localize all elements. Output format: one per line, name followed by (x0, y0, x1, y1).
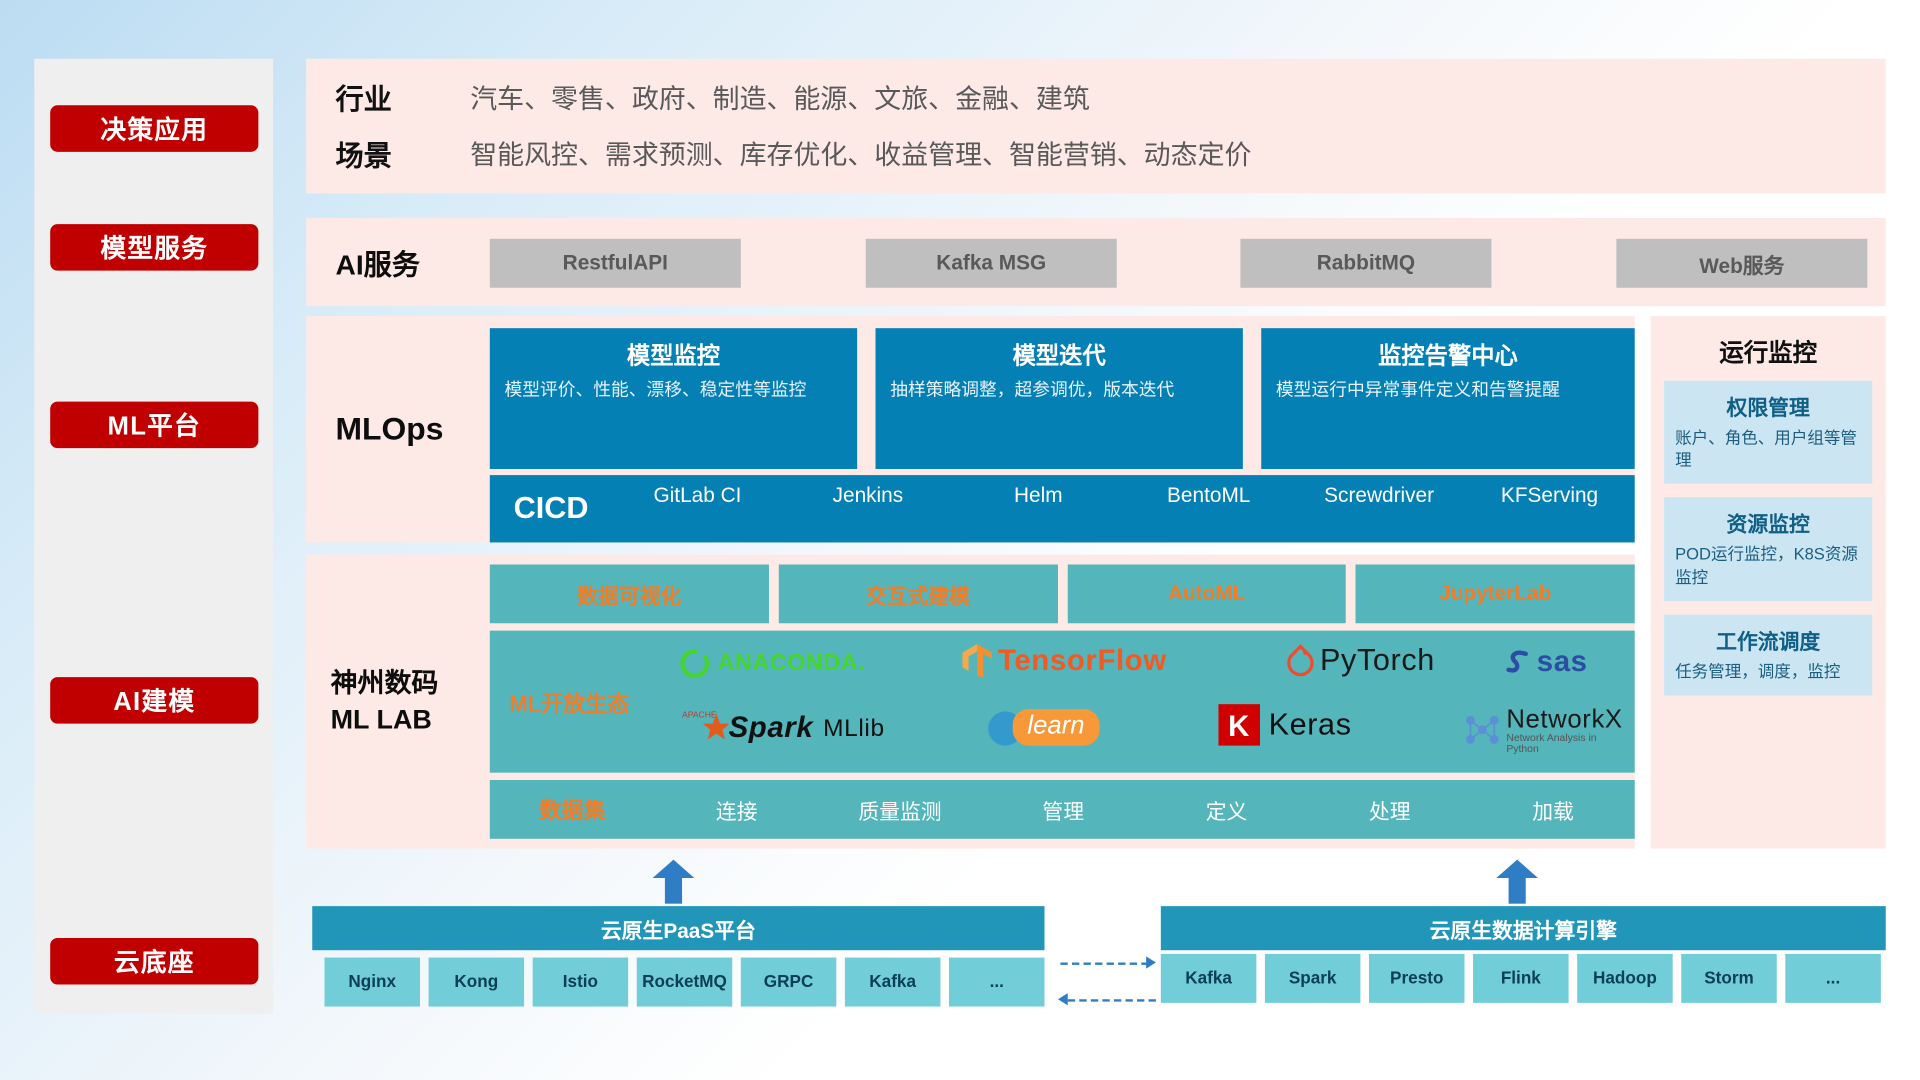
ai-service-label: AI服务 (336, 218, 420, 306)
industry-label: 行业 (336, 76, 471, 118)
ml-lab-band: 神州数码 ML LAB 数据可视化 交互式建模 AutoML JupyterLa… (306, 555, 1635, 849)
stage-chip-cloud-base[interactable]: 云底座 (50, 938, 258, 985)
tensorflow-wordmark: TensorFlow (998, 644, 1167, 678)
scenario-label: 场景 (336, 132, 471, 174)
networkx-icon (1463, 710, 1501, 749)
mlops-band: MLOps 模型监控 模型评价、性能、漂移、稳定性等监控 模型迭代 抽样策略调整… (306, 316, 1635, 543)
spark-mllib-logo: APACHE Spark MLlib (680, 707, 885, 751)
cicd-item-screwdriver[interactable]: Screwdriver (1294, 481, 1464, 537)
ai-service-kafka-msg[interactable]: Kafka MSG (866, 239, 1117, 288)
monitoring-card-workflow[interactable]: 工作流调度 任务管理，调度，监控 (1664, 615, 1872, 696)
ml-ecosystem-box: ML开放生态 ANACONDA. TensorFlow (490, 631, 1635, 773)
mlops-label: MLOps (336, 316, 444, 543)
ml-lab-chip-row: 数据可视化 交互式建模 AutoML JupyterLab (490, 564, 1635, 623)
card-title: 权限管理 (1675, 391, 1861, 422)
ai-service-band: AI服务 RestfulAPI Kafka MSG RabbitMQ Web服务 (306, 218, 1886, 306)
cicd-item-helm[interactable]: Helm (953, 481, 1123, 537)
tensorflow-logo: TensorFlow (961, 643, 1167, 680)
tag-flink[interactable]: Flink (1473, 954, 1569, 1003)
arrow-up-compute (1496, 860, 1538, 904)
card-desc: 抽样策略调整，超参调优，版本迭代 (890, 380, 1228, 404)
stage-chip-label: 云底座 (114, 943, 195, 980)
monitoring-card-permissions[interactable]: 权限管理 账户、角色、用户组等管理 (1664, 381, 1872, 484)
mllib-wordmark: MLlib (823, 714, 885, 742)
ai-service-rabbitmq[interactable]: RabbitMQ (1240, 239, 1491, 288)
networkx-logo: NetworkX Network Analysis in Python (1463, 707, 1628, 754)
dataset-item-process[interactable]: 处理 (1308, 794, 1471, 825)
scenario-row: 场景 智能风控、需求预测、库存优化、收益管理、智能营销、动态定价 (336, 132, 1252, 174)
networkx-wordmark: NetworkX (1506, 707, 1628, 733)
card-desc: POD运行监控，K8S资源监控 (1675, 544, 1861, 589)
scikit-learn-logo: learn (986, 707, 1100, 749)
dashed-link-left (1068, 999, 1156, 1001)
industry-values: 汽车、零售、政府、制造、能源、文旅、金融、建筑 (470, 77, 1090, 116)
arrow-up-paas (653, 860, 695, 904)
monitoring-card-resources[interactable]: 资源监控 POD运行监控，K8S资源监控 (1664, 498, 1872, 601)
ml-lab-chip-automl[interactable]: AutoML (1067, 564, 1346, 623)
dataset-item-manage[interactable]: 管理 (982, 794, 1145, 825)
tag-more-right[interactable]: ... (1785, 954, 1881, 1003)
ai-service-web[interactable]: Web服务 (1616, 239, 1867, 288)
mlops-card-model-monitor[interactable]: 模型监控 模型评价、性能、漂移、稳定性等监控 (490, 328, 857, 469)
ml-ecosystem-logo-grid: ANACONDA. TensorFlow PyTorch (680, 636, 1629, 768)
data-compute-engine-bar[interactable]: 云原生数据计算引擎 (1161, 906, 1886, 950)
cicd-item-gitlab-ci[interactable]: GitLab CI (612, 481, 782, 537)
dashed-arrowhead-right (1146, 956, 1156, 968)
card-desc: 账户、角色、用户组等管理 (1675, 427, 1861, 472)
cicd-bar: CICD GitLab CI Jenkins Helm BentoML Scre… (490, 475, 1635, 542)
cicd-item-jenkins[interactable]: Jenkins (783, 481, 953, 537)
sas-wordmark: sas (1537, 645, 1588, 679)
keras-logo: K Keras (1218, 704, 1351, 746)
ml-lab-chip-jupyterlab[interactable]: JupyterLab (1356, 564, 1635, 623)
cicd-item-kfserving[interactable]: KFServing (1464, 481, 1634, 537)
dataset-item-quality[interactable]: 质量监测 (818, 794, 981, 825)
tag-istio[interactable]: Istio (533, 958, 629, 1007)
anaconda-wordmark: ANACONDA. (718, 650, 866, 677)
runtime-monitoring-title: 运行监控 (1651, 316, 1886, 381)
card-desc: 模型运行中异常事件定义和告警提醒 (1276, 380, 1620, 404)
paas-platform-bar[interactable]: 云原生PaaS平台 (312, 906, 1044, 950)
dataset-item-load[interactable]: 加载 (1471, 794, 1634, 825)
svg-text:APACHE: APACHE (682, 710, 717, 720)
ml-lab-chip-interactive[interactable]: 交互式建模 (778, 564, 1057, 623)
pytorch-icon (1286, 643, 1315, 677)
spark-icon: APACHE (680, 707, 729, 751)
cicd-title: CICD (490, 491, 612, 527)
dataset-title: 数据集 (490, 793, 655, 825)
paas-tag-row: Nginx Kong Istio RocketMQ GRPC Kafka ... (324, 958, 1044, 1007)
cicd-item-bentoml[interactable]: BentoML (1123, 481, 1293, 537)
spark-wordmark: Spark (729, 711, 814, 745)
ml-ecosystem-label: ML开放生态 (509, 687, 629, 719)
svg-text:K: K (1228, 710, 1249, 743)
tag-hadoop[interactable]: Hadoop (1577, 954, 1673, 1003)
tag-nginx[interactable]: Nginx (324, 958, 420, 1007)
tag-rocketmq[interactable]: RocketMQ (637, 958, 733, 1007)
diagram-canvas: 决策应用 模型服务 ML平台 AI建模 云底座 行业 汽车、零售、政府、制造、能… (0, 0, 1920, 1080)
tensorflow-icon (961, 643, 993, 680)
dashed-arrowhead-left (1058, 993, 1068, 1005)
stage-rail: 决策应用 模型服务 ML平台 AI建模 云底座 (34, 59, 273, 1014)
dataset-item-define[interactable]: 定义 (1145, 794, 1308, 825)
stage-chip-model-service[interactable]: 模型服务 (50, 224, 258, 271)
ai-service-restfulapi[interactable]: RestfulAPI (490, 239, 741, 288)
stage-chip-ml-platform[interactable]: ML平台 (50, 402, 258, 449)
scenario-values: 智能风控、需求预测、库存优化、收益管理、智能营销、动态定价 (470, 133, 1251, 172)
tag-grpc[interactable]: GRPC (741, 958, 837, 1007)
tag-storm[interactable]: Storm (1681, 954, 1777, 1003)
dataset-item-connect[interactable]: 连接 (655, 794, 818, 825)
sas-logo: sas (1502, 645, 1587, 679)
stage-chip-label: AI建模 (113, 682, 195, 719)
anaconda-icon (680, 648, 712, 680)
card-desc: 任务管理，调度，监控 (1675, 661, 1861, 683)
stage-chip-label: 模型服务 (100, 229, 208, 266)
card-title: 资源监控 (1675, 507, 1861, 538)
card-title: 工作流调度 (1675, 624, 1861, 655)
industry-scenario-band: 行业 汽车、零售、政府、制造、能源、文旅、金融、建筑 场景 智能风控、需求预测、… (306, 59, 1886, 194)
sas-icon (1502, 647, 1534, 679)
dataset-bar: 数据集 连接 质量监测 管理 定义 处理 加载 (490, 780, 1635, 839)
networkx-wordmark-group: NetworkX Network Analysis in Python (1506, 707, 1628, 754)
card-desc: 模型评价、性能、漂移、稳定性等监控 (504, 380, 842, 404)
ml-lab-label-line2: ML LAB (331, 702, 439, 738)
card-title: 监控告警中心 (1276, 338, 1620, 371)
ml-lab-label-line1: 神州数码 (331, 665, 439, 701)
ml-lab-chip-data-viz[interactable]: 数据可视化 (490, 564, 769, 623)
tag-kong[interactable]: Kong (429, 958, 525, 1007)
ml-lab-label: 神州数码 ML LAB (331, 555, 439, 849)
dashed-link-right (1060, 962, 1148, 964)
tag-more-left[interactable]: ... (949, 958, 1045, 1007)
stage-chip-ai-modeling[interactable]: AI建模 (50, 677, 258, 724)
tag-spark[interactable]: Spark (1265, 954, 1361, 1003)
mlops-card-model-iteration[interactable]: 模型迭代 抽样策略调整，超参调优，版本迭代 (876, 328, 1243, 469)
tag-kafka-right[interactable]: Kafka (1161, 954, 1257, 1003)
keras-icon: K (1218, 704, 1260, 746)
card-title: 模型监控 (504, 338, 842, 371)
stage-chip-label: 决策应用 (100, 110, 208, 147)
industry-row: 行业 汽车、零售、政府、制造、能源、文旅、金融、建筑 (336, 76, 1090, 118)
mlops-card-alert-center[interactable]: 监控告警中心 模型运行中异常事件定义和告警提醒 (1261, 328, 1634, 469)
tag-kafka[interactable]: Kafka (845, 958, 941, 1007)
networkx-tagline: Network Analysis in Python (1506, 732, 1628, 753)
stage-chip-label: ML平台 (108, 407, 201, 444)
pytorch-logo: PyTorch (1286, 643, 1435, 679)
anaconda-logo: ANACONDA. (680, 648, 866, 680)
compute-tag-row: Kafka Spark Presto Flink Hadoop Storm ..… (1161, 954, 1881, 1003)
pytorch-wordmark: PyTorch (1320, 643, 1435, 679)
keras-wordmark: Keras (1269, 707, 1352, 743)
tag-presto[interactable]: Presto (1369, 954, 1465, 1003)
card-title: 模型迭代 (890, 338, 1228, 371)
scikit-learn-wordmark: learn (1013, 709, 1100, 746)
runtime-monitoring-panel: 运行监控 权限管理 账户、角色、用户组等管理 资源监控 POD运行监控，K8S资… (1651, 316, 1886, 849)
stage-chip-decision[interactable]: 决策应用 (50, 105, 258, 152)
